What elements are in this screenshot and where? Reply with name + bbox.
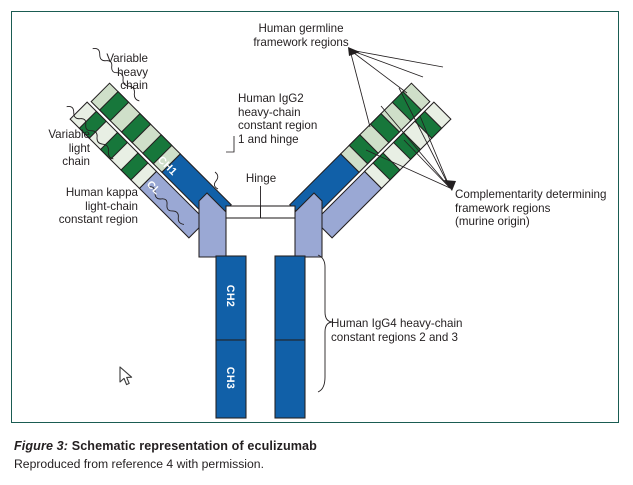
- domain-label-ch2: CH2: [224, 285, 236, 307]
- caption-figure-number: Figure 3:: [14, 439, 68, 453]
- figure-container: .ol{stroke:#231f20;stroke-width:1.05;} .…: [0, 0, 633, 485]
- label-variable-light-chain: Variable light chain: [0, 128, 90, 169]
- figure-caption: Figure 3: Schematic representation of ec…: [14, 438, 614, 473]
- label-human-germline: Human germline framework regions: [242, 22, 360, 49]
- right-ch2: [275, 256, 305, 340]
- label-cdr-murine: Complementarity determining framework re…: [455, 188, 631, 229]
- label-hinge: Hinge: [236, 172, 286, 186]
- label-human-igg2: Human IgG2 heavy-chain constant region 1…: [238, 92, 350, 146]
- label-variable-heavy-chain: Variable heavy chain: [58, 52, 148, 93]
- leader-igg2-ch1: [226, 136, 234, 152]
- caption-title: Schematic representation of eculizumab: [72, 439, 317, 453]
- bracket-igg2-hinge: [214, 172, 218, 189]
- mouse-pointer-icon: [119, 366, 135, 388]
- caption-credit: Reproduced from reference 4 with permiss…: [14, 456, 614, 473]
- label-human-igg4: Human IgG4 heavy-chain constant regions …: [331, 317, 516, 344]
- right-ch3: [275, 340, 305, 418]
- label-human-kappa: Human kappa light-chain constant region: [8, 186, 138, 227]
- domain-label-ch3: CH3: [224, 367, 236, 389]
